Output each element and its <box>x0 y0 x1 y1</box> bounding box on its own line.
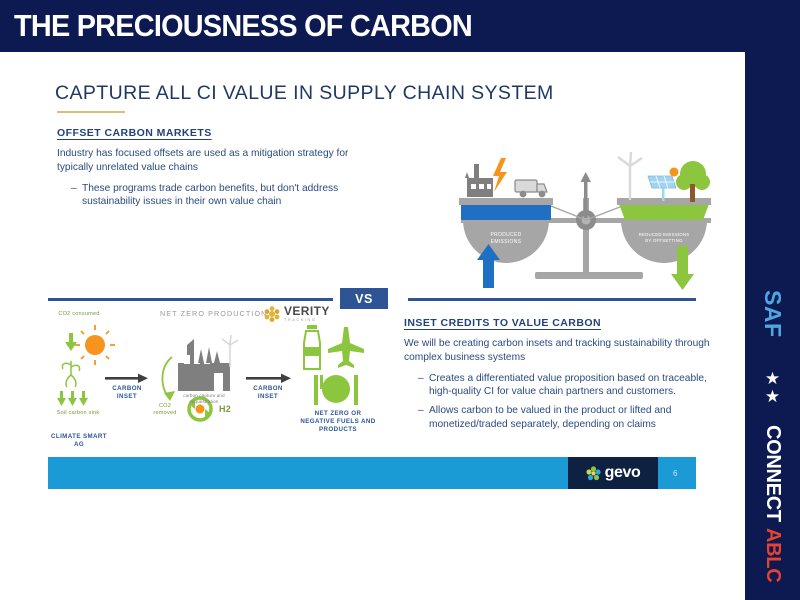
arrow1-label: CARBON INSET <box>106 385 148 401</box>
verity-mark-icon <box>264 306 280 322</box>
arrow2-label: CARBON INSET <box>247 385 289 401</box>
net-zero-process-diagram: NET ZERO PRODUCTION CO2 consumed Soil ca… <box>48 305 398 450</box>
stage1-caption: CLIMATE SMART AG <box>48 433 110 449</box>
inset-bullet-1: Creates a differentiated value propositi… <box>418 372 724 399</box>
inset-paragraph: We will be creating carbon insets and tr… <box>404 337 724 365</box>
process-title: NET ZERO PRODUCTION <box>160 309 267 318</box>
inset-bullet-2: Allows carbon to be valued in the produc… <box>418 404 724 431</box>
stage3-caption: NET ZERO OR NEGATIVE FUELS AND PRODUCTS <box>300 410 376 433</box>
svg-text:PRODUCED: PRODUCED <box>490 232 521 238</box>
stage1-bottom-label: Soil carbon sink <box>52 410 104 417</box>
footer-bar: gevo 6 <box>48 457 696 489</box>
svg-text:EMISSIONS: EMISSIONS <box>491 239 522 245</box>
verity-logo: VERITY TRACKING <box>264 305 330 322</box>
stage2-hydrogen-label: H2 <box>216 404 234 415</box>
star-group: ★ ★ <box>745 370 800 406</box>
stage1-top-label: CO2 consumed <box>54 311 104 318</box>
svg-text:REDUCED EMISSIONS: REDUCED EMISSIONS <box>639 232 690 237</box>
divider-line-right <box>408 298 696 301</box>
balance-scale-svg: PRODUCED EMISSIONS <box>443 150 728 290</box>
inset-bullet-list: Creates a differentiated value propositi… <box>404 372 724 432</box>
star-icon-1: ★ <box>745 370 800 388</box>
offset-sub-heading: OFFSET CARBON MARKETS <box>57 127 387 139</box>
ablc-connect-group: CONNECT ABLC <box>745 425 800 595</box>
card-heading: CAPTURE ALL CI VALUE IN SUPPLY CHAIN SYS… <box>55 82 554 105</box>
page-title: THE PRECIOUSNESS OF CARBON <box>14 8 472 44</box>
verity-text-group: VERITY TRACKING <box>284 305 330 322</box>
slide-title-bar: THE PRECIOUSNESS OF CARBON <box>0 0 800 52</box>
offset-carbon-markets-block: OFFSET CARBON MARKETS Industry has focus… <box>57 127 387 214</box>
connect-label: CONNECT <box>761 425 784 522</box>
stage2-caption: carbon capture and sequestration <box>174 393 234 404</box>
inset-credits-block: INSET CREDITS TO VALUE CARBON We will be… <box>404 317 724 436</box>
slide-root: THE PRECIOUSNESS OF CARBON CAPTURE ALL C… <box>0 0 800 600</box>
page-number: 6 <box>673 457 677 489</box>
inset-sub-heading: INSET CREDITS TO VALUE CARBON <box>404 317 724 329</box>
verity-name: VERITY <box>284 305 330 317</box>
ablc-label: ABLC <box>761 528 784 582</box>
star-icon-2: ★ <box>745 388 800 406</box>
gevo-wordmark: gevo <box>605 464 641 482</box>
brand-rail: SAF ★ ★ CONNECT ABLC <box>745 0 800 600</box>
verity-tagline: TRACKING <box>284 318 330 322</box>
offset-paragraph: Industry has focused offsets are used as… <box>57 147 387 175</box>
balance-scale-illustration: PRODUCED EMISSIONS <box>443 150 728 290</box>
svg-text:BY OFFSETTING: BY OFFSETTING <box>645 238 683 243</box>
stage2-side-label: CO2 removed <box>152 403 178 417</box>
saf-label: SAF <box>759 290 786 338</box>
offset-bullet-1: These programs trade carbon benefits, bu… <box>71 182 387 209</box>
divider-line-left <box>48 298 333 301</box>
gevo-logo-block: gevo <box>568 457 658 489</box>
offset-bullet-list: These programs trade carbon benefits, bu… <box>57 182 387 209</box>
gevo-mark-icon <box>586 466 601 481</box>
heading-underline-rule <box>57 111 125 113</box>
